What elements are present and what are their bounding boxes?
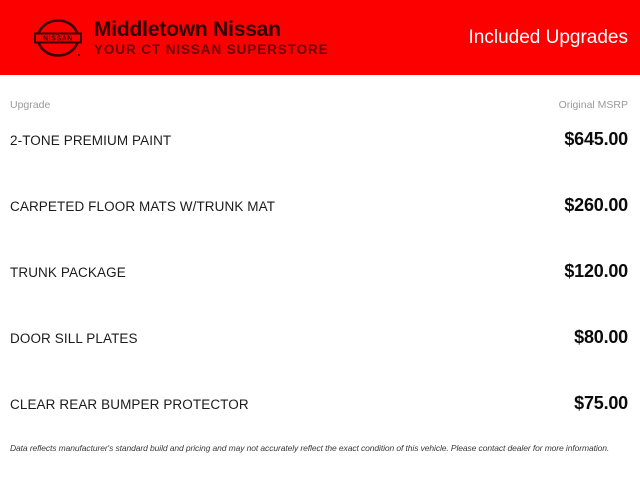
upgrade-name: CLEAR REAR BUMPER PROTECTOR xyxy=(10,397,249,412)
included-upgrades-page: NISSAN Middletown Nissan YOUR CT NISSAN … xyxy=(0,0,640,480)
page-header: NISSAN Middletown Nissan YOUR CT NISSAN … xyxy=(0,0,640,75)
upgrade-price: $80.00 xyxy=(574,327,628,348)
upgrade-name: CARPETED FLOOR MATS W/TRUNK MAT xyxy=(10,199,275,214)
upgrade-name: TRUNK PACKAGE xyxy=(10,265,126,280)
dealer-branding: NISSAN Middletown Nissan YOUR CT NISSAN … xyxy=(0,15,329,61)
dealer-name: Middletown Nissan xyxy=(94,19,329,40)
dealer-tagline: YOUR CT NISSAN SUPERSTORE xyxy=(94,43,329,57)
upgrade-price: $260.00 xyxy=(564,195,628,216)
page-title: Included Upgrades xyxy=(469,27,629,49)
disclaimer-text: Data reflects manufacturer's standard bu… xyxy=(10,443,628,453)
table-header-row: Upgrade Original MSRP xyxy=(10,75,628,111)
upgrade-price: $120.00 xyxy=(564,261,628,282)
upgrade-name: DOOR SILL PLATES xyxy=(10,331,138,346)
column-header-upgrade: Upgrade xyxy=(10,99,50,111)
dealer-name-block: Middletown Nissan YOUR CT NISSAN SUPERST… xyxy=(94,19,329,57)
upgrades-table: Upgrade Original MSRP 2-TONE PREMIUM PAI… xyxy=(0,75,640,459)
nissan-emblem-text: NISSAN xyxy=(43,35,73,42)
upgrade-price: $75.00 xyxy=(574,393,628,414)
upgrade-name: 2-TONE PREMIUM PAINT xyxy=(10,133,171,148)
nissan-emblem-icon: NISSAN xyxy=(30,15,86,61)
table-row: DOOR SILL PLATES $80.00 xyxy=(10,327,628,393)
table-row: TRUNK PACKAGE $120.00 xyxy=(10,261,628,327)
upgrade-price: $645.00 xyxy=(564,129,628,150)
table-row: CARPETED FLOOR MATS W/TRUNK MAT $260.00 xyxy=(10,195,628,261)
table-body: 2-TONE PREMIUM PAINT $645.00 CARPETED FL… xyxy=(10,129,628,459)
column-header-msrp: Original MSRP xyxy=(559,99,628,111)
table-row: 2-TONE PREMIUM PAINT $645.00 xyxy=(10,129,628,195)
